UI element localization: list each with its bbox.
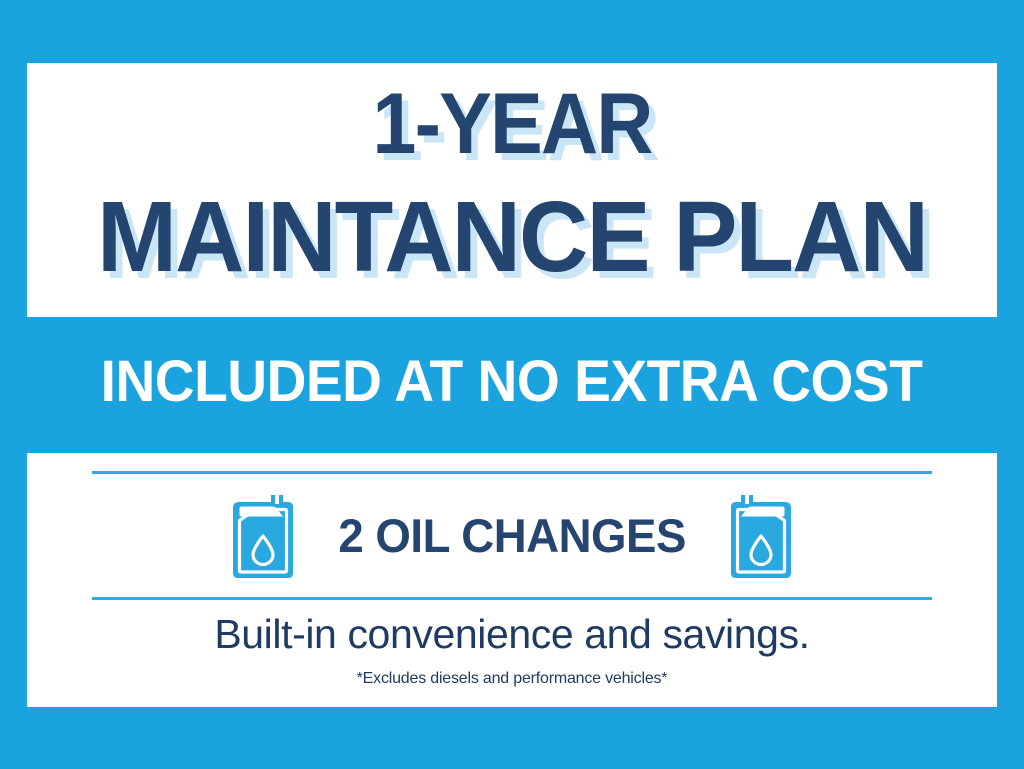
promo-card: 1-YEAR MAINTANCE PLAN INCLUDED AT NO EXT… <box>0 0 1024 769</box>
headline-line-1: 1-YEAR <box>66 81 958 167</box>
offer-row: 2 OIL CHANGES <box>27 479 997 591</box>
offer-label: 2 OIL CHANGES <box>338 508 686 563</box>
subtitle-text: INCLUDED AT NO EXTRA COST <box>101 348 923 415</box>
tagline-text: Built-in convenience and savings. <box>27 611 997 658</box>
oil-can-icon-right <box>725 489 797 581</box>
headline-stack: 1-YEAR MAINTANCE PLAN <box>27 63 997 317</box>
headline-panel: 1-YEAR MAINTANCE PLAN <box>27 63 997 317</box>
headline-line-2: MAINTANCE PLAN <box>46 187 977 287</box>
oil-can-icon-left <box>227 489 299 581</box>
divider-top <box>92 471 932 474</box>
subtitle-band: INCLUDED AT NO EXTRA COST <box>0 325 1024 437</box>
details-panel: 2 OIL CHANGES Built-in convenience and s… <box>27 453 997 707</box>
divider-bottom <box>92 597 932 600</box>
fine-print-text: *Excludes diesels and performance vehicl… <box>27 670 997 688</box>
